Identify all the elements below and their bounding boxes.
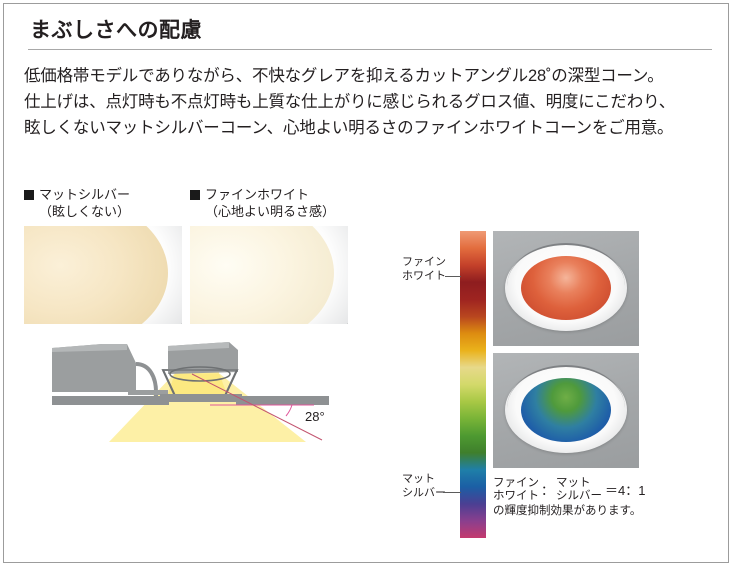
photo-caption-fine-white: ファインホワイト （心地よい明るさ感） xyxy=(190,186,335,220)
frame-border-left xyxy=(3,3,4,563)
page-title: まぶしさへの配慮 xyxy=(30,14,202,44)
title-divider xyxy=(28,49,712,50)
ratio-numerator-top: ファイン xyxy=(493,477,539,490)
false-color-cone xyxy=(521,378,611,442)
caption-sub-text: （眩しくない） xyxy=(24,203,130,220)
ratio-note-tail: の輝度抑制効果があります。 xyxy=(493,504,645,519)
luminance-map-fine-white xyxy=(493,231,639,346)
scale-leader-fine-white xyxy=(445,276,461,277)
photo-matt-silver xyxy=(24,226,182,324)
ratio-denominator-bottom: シルバー xyxy=(556,490,602,503)
ratio-numerator-bottom: ホワイト xyxy=(493,490,539,503)
ratio-numerator: ファイン ホワイト xyxy=(493,477,539,503)
illuminated-cone xyxy=(190,226,334,324)
ratio-equals: ＝4：1 xyxy=(605,483,645,498)
photo-caption-matt-silver: マットシルバー （眩しくない） xyxy=(24,186,130,220)
scale-label-line-2: シルバー xyxy=(402,487,446,499)
frame-border-top xyxy=(3,3,729,4)
cone-flange xyxy=(160,394,242,402)
square-bullet-icon xyxy=(190,190,200,200)
scale-label-line-1: ファイン xyxy=(402,256,446,268)
angle-arc xyxy=(286,405,292,416)
scale-label-line-2: ホワイト xyxy=(402,270,446,282)
ratio-expression: ファイン ホワイト ： マット シルバー ＝4：1 xyxy=(493,477,645,503)
ratio-denominator-top: マット xyxy=(556,477,602,490)
ratio-denominator: マット シルバー xyxy=(556,477,602,503)
frame-border-bottom xyxy=(3,562,729,563)
lead-paragraph: 低価格帯モデルでありながら、不快なグレアを抑えるカットアングル28˚の深型コーン… xyxy=(24,63,724,141)
page-root: まぶしさへの配慮 低価格帯モデルでありながら、不快なグレアを抑えるカットアングル… xyxy=(0,0,741,573)
square-bullet-icon xyxy=(24,190,34,200)
scale-label-line-1: マット xyxy=(402,473,435,485)
caption-main-text: マットシルバー xyxy=(39,187,130,202)
luminance-map-matt-silver xyxy=(493,353,639,468)
luminance-scale-bar xyxy=(460,231,486,538)
frame-border-right xyxy=(728,3,729,563)
scale-label-fine-white: ファイン ホワイト xyxy=(402,255,446,283)
ratio-colon: ： xyxy=(541,483,554,498)
luminance-ratio-note: ファイン ホワイト ： マット シルバー ＝4：1 の輝度抑制効果があります。 xyxy=(493,477,645,519)
lead-line-2: 仕上げは、点灯時も不点灯時も上質な仕上がりに感じられるグロス値、明度にこだわり、 xyxy=(24,89,724,115)
lead-line-3: 眩しくないマットシルバーコーン、心地よい明るさのファインホワイトコーンをご用意。 xyxy=(24,115,724,141)
scale-leader-matt-silver xyxy=(443,492,461,493)
ceiling-plate-left xyxy=(52,396,169,405)
caption-sub-text: （心地よい明るさ感） xyxy=(190,203,335,220)
lead-line-1: 低価格帯モデルでありながら、不快なグレアを抑えるカットアングル28˚の深型コーン… xyxy=(24,63,724,89)
cut-angle-diagram: 28° xyxy=(24,330,380,460)
photo-fine-white xyxy=(190,226,348,324)
false-color-cone xyxy=(521,256,611,320)
illuminated-cone xyxy=(24,226,168,324)
caption-main-text: ファインホワイト xyxy=(205,187,309,202)
angle-label: 28° xyxy=(305,409,325,424)
scale-label-matt-silver: マット シルバー xyxy=(402,472,446,500)
